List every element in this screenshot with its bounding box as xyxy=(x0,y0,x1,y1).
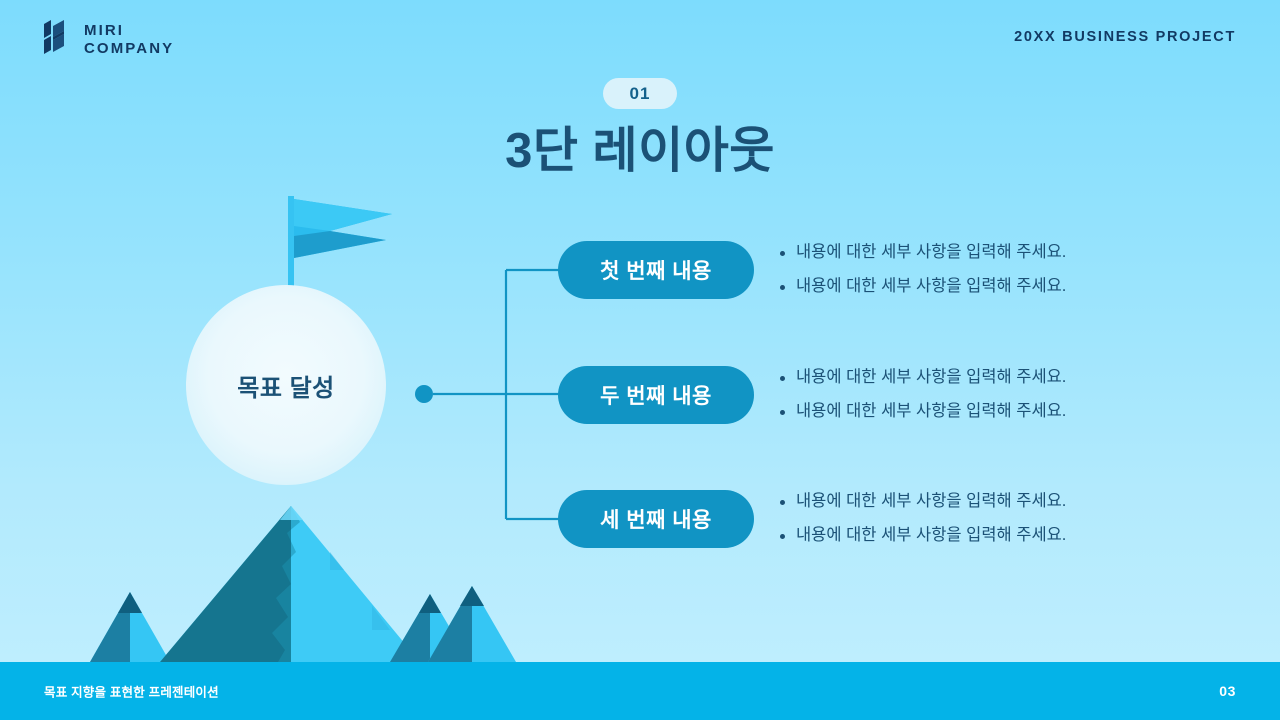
row-label-3[interactable]: 세 번째 내용 xyxy=(558,490,754,548)
bullet-text: 내용에 대한 세부 사항을 입력해 주세요. xyxy=(796,492,1066,512)
row-label-1[interactable]: 첫 번째 내용 xyxy=(558,241,754,299)
row-bullets-2: 내용에 대한 세부 사항을 입력해 주세요. 내용에 대한 세부 사항을 입력해… xyxy=(780,368,1066,422)
list-item: 내용에 대한 세부 사항을 입력해 주세요. xyxy=(780,526,1066,546)
bullet-text: 내용에 대한 세부 사항을 입력해 주세요. xyxy=(796,368,1066,388)
connector-lines xyxy=(0,0,1280,720)
bullet-dot-icon xyxy=(780,500,785,505)
bullet-dot-icon xyxy=(780,376,785,381)
bullet-dot-icon xyxy=(780,410,785,415)
connector-node-dot xyxy=(415,385,433,403)
list-item: 내용에 대한 세부 사항을 입력해 주세요. xyxy=(780,492,1066,512)
slide-footer: 목표 지향을 표현한 프레젠테이션 03 xyxy=(0,662,1280,720)
list-item: 내용에 대한 세부 사항을 입력해 주세요. xyxy=(780,277,1066,297)
list-item: 내용에 대한 세부 사항을 입력해 주세요. xyxy=(780,368,1066,388)
bullet-dot-icon xyxy=(780,534,785,539)
content-row-1: 첫 번째 내용 내용에 대한 세부 사항을 입력해 주세요. 내용에 대한 세부… xyxy=(558,241,1066,299)
bullet-dot-icon xyxy=(780,251,785,256)
slide-root: MIRI COMPANY 20XX BUSINESS PROJECT 01 3단… xyxy=(0,0,1280,720)
row-bullets-3: 내용에 대한 세부 사항을 입력해 주세요. 내용에 대한 세부 사항을 입력해… xyxy=(780,492,1066,546)
list-item: 내용에 대한 세부 사항을 입력해 주세요. xyxy=(780,243,1066,263)
bullet-text: 내용에 대한 세부 사항을 입력해 주세요. xyxy=(796,243,1066,263)
content-row-3: 세 번째 내용 내용에 대한 세부 사항을 입력해 주세요. 내용에 대한 세부… xyxy=(558,490,1066,548)
row-label-2[interactable]: 두 번째 내용 xyxy=(558,366,754,424)
list-item: 내용에 대한 세부 사항을 입력해 주세요. xyxy=(780,402,1066,422)
content-row-2: 두 번째 내용 내용에 대한 세부 사항을 입력해 주세요. 내용에 대한 세부… xyxy=(558,366,1066,424)
bullet-text: 내용에 대한 세부 사항을 입력해 주세요. xyxy=(796,277,1066,297)
bullet-dot-icon xyxy=(780,285,785,290)
row-bullets-1: 내용에 대한 세부 사항을 입력해 주세요. 내용에 대한 세부 사항을 입력해… xyxy=(780,243,1066,297)
bullet-text: 내용에 대한 세부 사항을 입력해 주세요. xyxy=(796,526,1066,546)
footer-subtitle: 목표 지향을 표현한 프레젠테이션 xyxy=(44,682,219,701)
bullet-text: 내용에 대한 세부 사항을 입력해 주세요. xyxy=(796,402,1066,422)
page-number: 03 xyxy=(1219,683,1236,699)
